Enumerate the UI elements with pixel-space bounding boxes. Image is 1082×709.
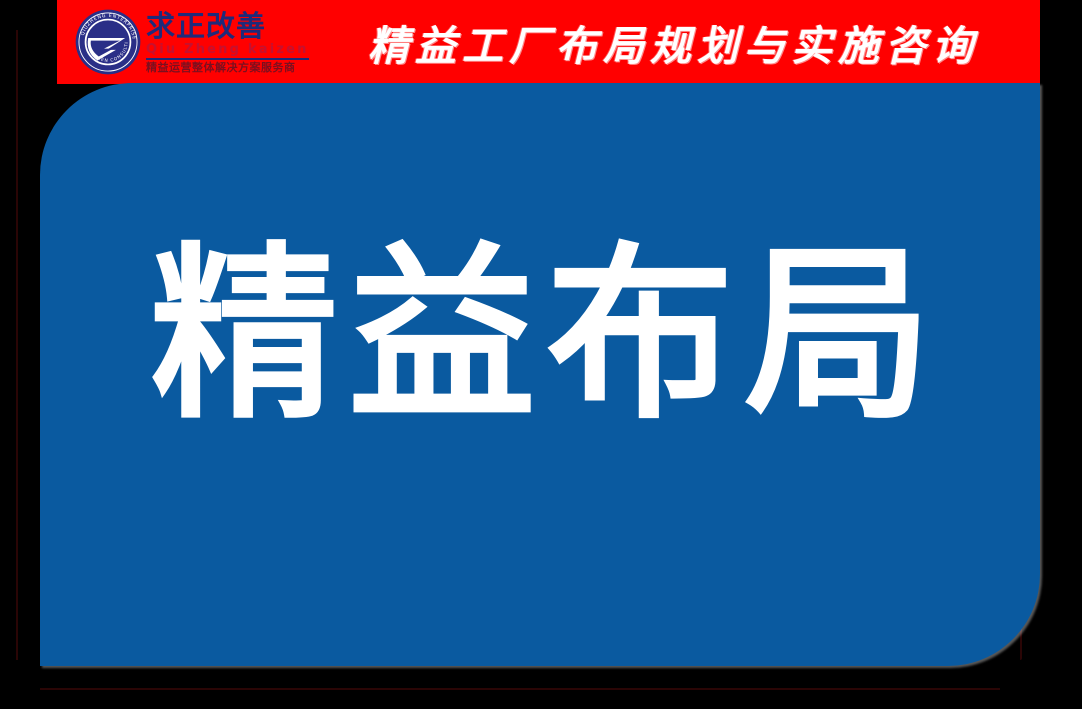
frame-trace-bottom (40, 688, 1000, 690)
logo-pinyin: Qiu Zheng kaizen (146, 43, 309, 56)
banner-title: 精益工厂布局规划与实施咨询 (317, 0, 1030, 84)
content-panel: 精益布局 (40, 83, 1040, 666)
content-panel-body: 精益布局 (40, 83, 1040, 666)
circular-seal-icon: QIUZHENG ENTERPRISE MANAGEMENT KAIZEN CO… (75, 9, 141, 75)
slide-main-title: 精益布局 (150, 242, 942, 430)
frame-trace-left (16, 30, 18, 660)
company-logo: QIUZHENG ENTERPRISE MANAGEMENT KAIZEN CO… (75, 4, 309, 80)
slide-canvas: QIUZHENG ENTERPRISE MANAGEMENT KAIZEN CO… (0, 0, 1082, 709)
logo-divider (146, 58, 309, 60)
header-banner-inner: QIUZHENG ENTERPRISE MANAGEMENT KAIZEN CO… (57, 0, 1040, 84)
logo-wordmark: 求正改善 Qiu Zheng kaizen 精益运营整体解决方案服务商 (146, 12, 309, 73)
logo-chinese-name: 求正改善 (146, 12, 309, 41)
header-banner: QIUZHENG ENTERPRISE MANAGEMENT KAIZEN CO… (57, 0, 1040, 84)
logo-tagline: 精益运营整体解决方案服务商 (146, 62, 309, 73)
